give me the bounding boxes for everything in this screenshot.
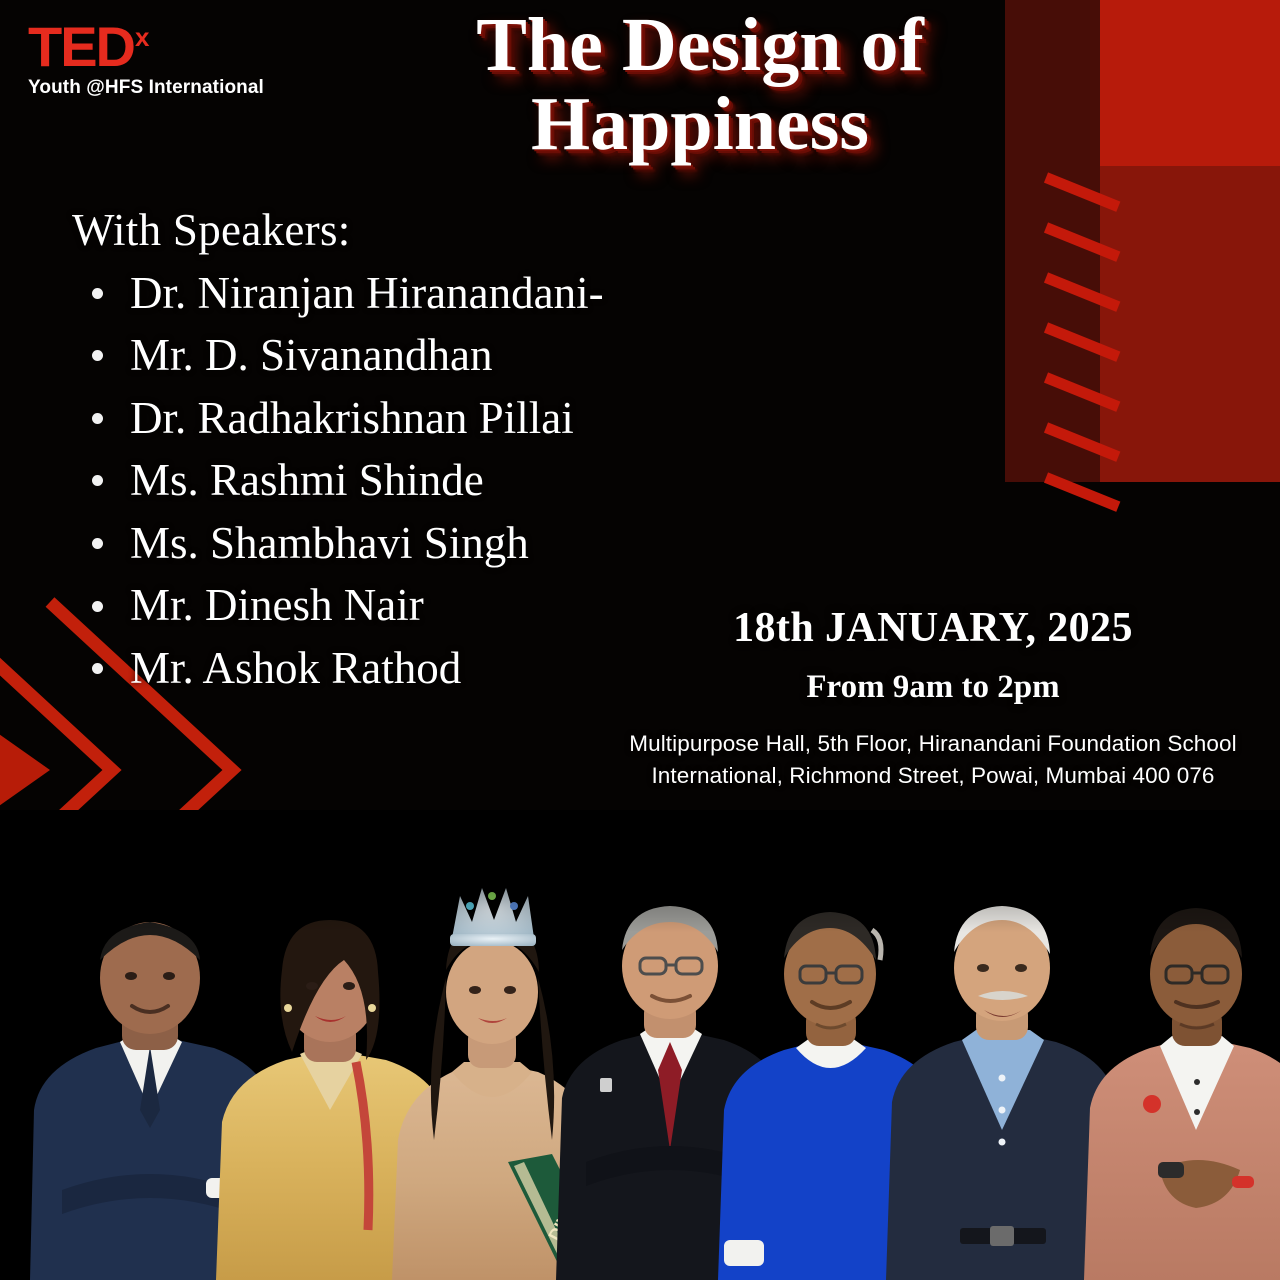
speaker-list-item: Ms. Shambhavi Singh [72, 512, 772, 575]
event-venue: Multipurpose Hall, 5th Floor, Hiranandan… [618, 728, 1248, 792]
tedx-wordmark: TED x [28, 20, 264, 73]
speaker-photos-illustration: DIVINE [0, 810, 1280, 1280]
poster-title: The Design of Happiness [380, 6, 1020, 164]
speaker-list-item: Dr. Niranjan Hiranandani- [72, 262, 772, 325]
decor-diagonal-stripes [1050, 168, 1102, 520]
title-line-1: The Design of [380, 6, 1020, 85]
venue-line-2: International, Richmond Street, Powai, M… [651, 763, 1214, 788]
tedx-logo-text: TED [28, 20, 134, 73]
tedx-event-poster: TED x Youth @HFS International The Desig… [0, 0, 1280, 1280]
event-time: From 9am to 2pm [618, 669, 1248, 706]
speakers-heading: With Speakers: [72, 206, 772, 256]
speaker-list-item: Ms. Rashmi Shinde [72, 449, 772, 512]
speaker-list-item: Mr. D. Sivanandhan [72, 324, 772, 387]
speaker-photo-strip: DIVINE [0, 810, 1280, 1280]
title-line-2: Happiness [380, 85, 1020, 164]
tedx-subtitle: Youth @HFS International [28, 77, 264, 99]
speaker-list-item: Dr. Radhakrishnan Pillai [72, 387, 772, 450]
venue-line-1: Multipurpose Hall, 5th Floor, Hiranandan… [629, 731, 1237, 756]
tedx-logo: TED x Youth @HFS International [28, 20, 264, 99]
decor-dark-red-overlay [1005, 0, 1280, 482]
event-details: 18th JANUARY, 2025 From 9am to 2pm Multi… [618, 604, 1248, 792]
event-date: 18th JANUARY, 2025 [618, 604, 1248, 652]
tedx-logo-superscript: x [135, 24, 147, 50]
